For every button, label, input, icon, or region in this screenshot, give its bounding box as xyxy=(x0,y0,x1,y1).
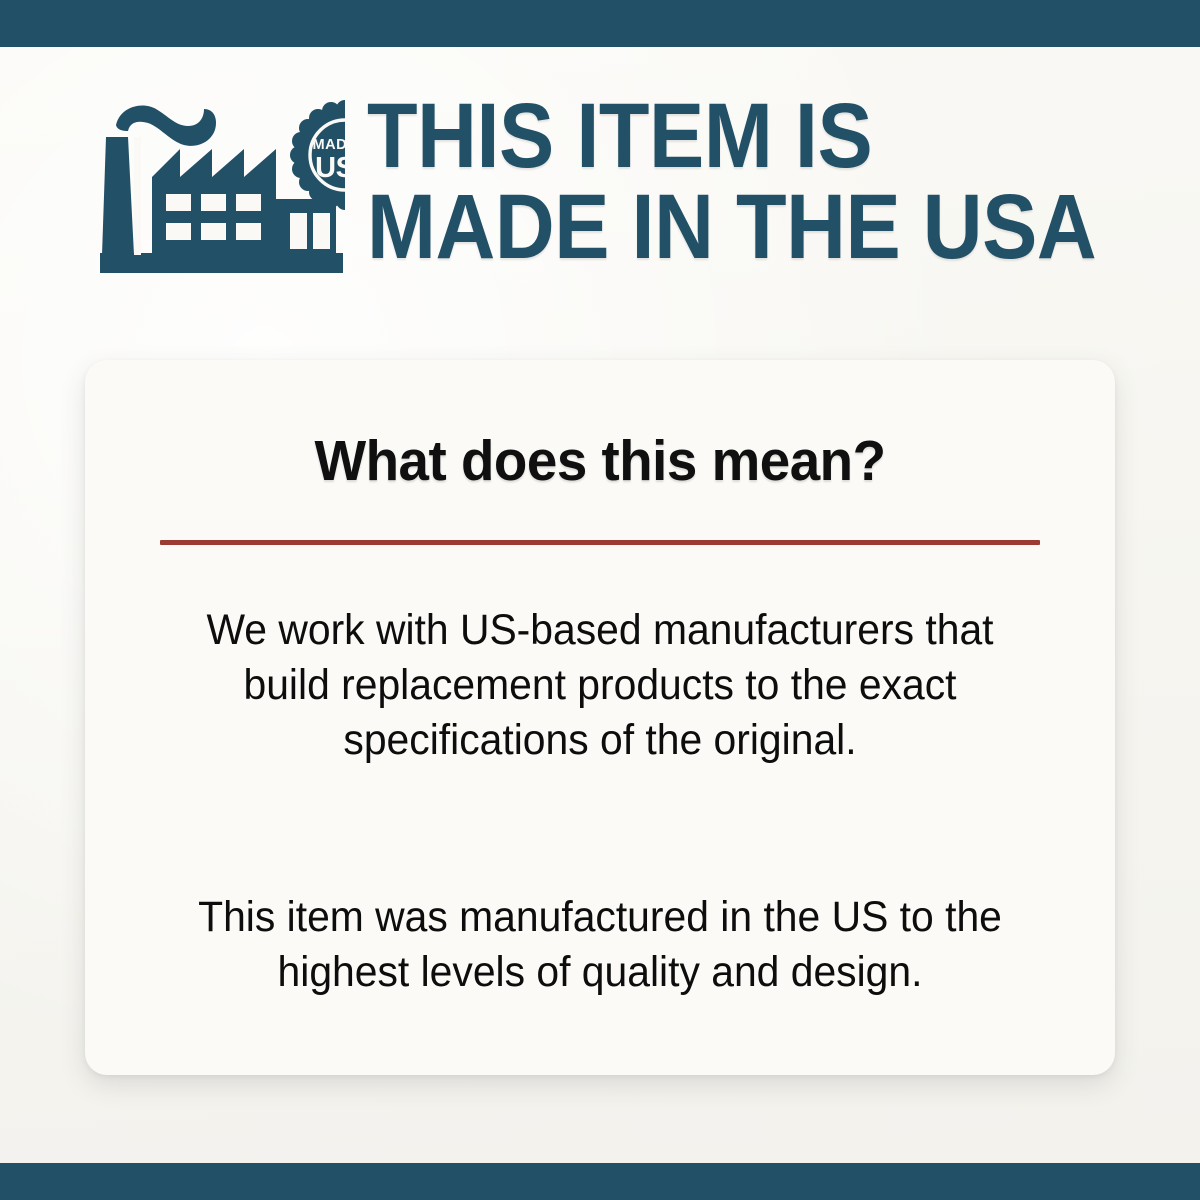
card-heading: What does this mean? xyxy=(106,360,1095,494)
card-paragraph-1: We work with US-based manufacturers that… xyxy=(173,603,1028,768)
bottom-accent-band xyxy=(0,1163,1200,1200)
factory-icon: MADE IN USA xyxy=(100,93,345,278)
card-paragraph-2: This item was manufactured in the US to … xyxy=(173,890,1028,1000)
page-title-line-2: MADE IN THE USA xyxy=(367,182,1096,273)
page-root: MADE IN USA THIS ITEM IS MADE IN THE USA… xyxy=(0,0,1200,1200)
page-title: THIS ITEM IS MADE IN THE USA xyxy=(367,91,1096,273)
svg-text:USA: USA xyxy=(315,152,345,184)
info-card: What does this mean? We work with US-bas… xyxy=(85,360,1115,1075)
made-in-usa-badge-icon: MADE IN USA xyxy=(290,100,345,210)
header: MADE IN USA THIS ITEM IS MADE IN THE USA xyxy=(0,47,1200,317)
card-body: We work with US-based manufacturers that… xyxy=(85,603,1115,1000)
top-accent-band xyxy=(0,0,1200,47)
card-divider xyxy=(160,540,1040,545)
page-title-line-1: THIS ITEM IS xyxy=(367,91,1096,182)
svg-text:MADE IN: MADE IN xyxy=(313,136,345,152)
